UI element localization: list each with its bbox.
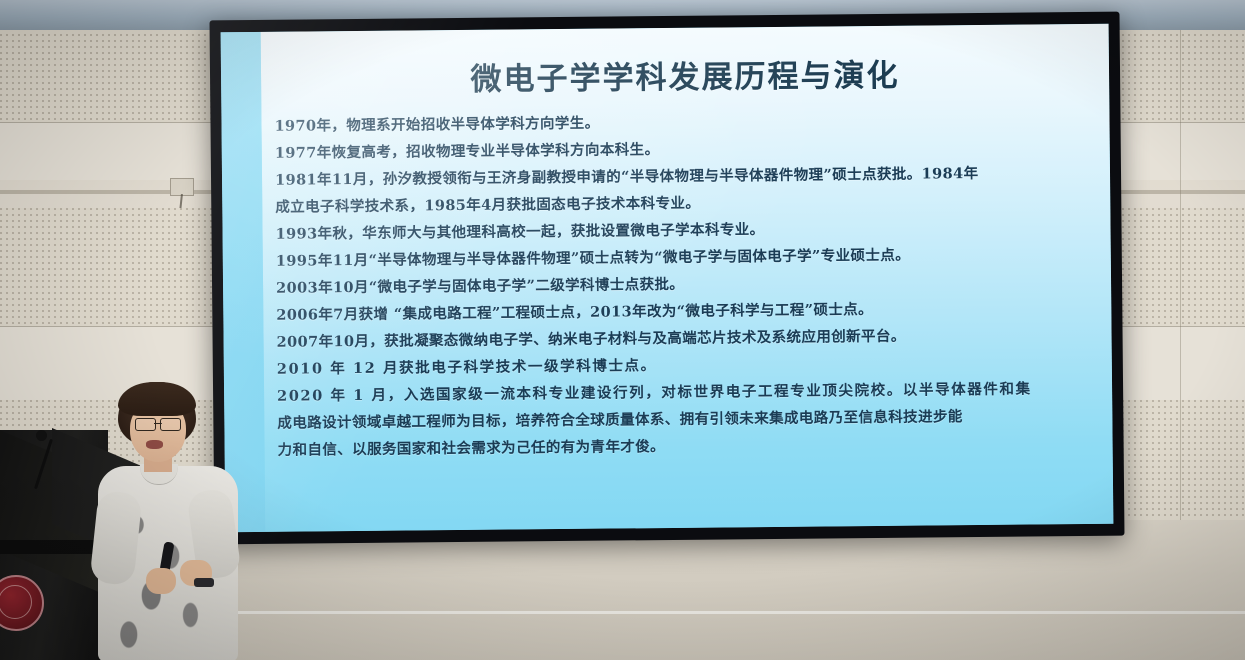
presenter <box>88 382 248 660</box>
microphone-head <box>36 430 47 441</box>
slide-line: 2020 年 1 月，入选国家级一流本科专业建设行列，对标世界电子工程专业顶尖院… <box>277 382 1090 404</box>
lecture-hall-photo: 微电子学学科发展历程与演化 1970年，物理系开始招收半导体学科方向学生。 19… <box>0 0 1245 660</box>
slide-line: 1993年秋，华东师大与其他理科高校一起，获批设置微电子学本科专业。 <box>275 220 1088 242</box>
slide-line: 2003年10月“微电子学与固体电子学”二级学科博士点获批。 <box>276 274 1089 296</box>
slide-line: 2007年10月，获批凝聚态微纳电子学、纳米电子材料与及高端芯片技术及系统应用创… <box>277 328 1090 350</box>
emblem-inner-ring <box>0 585 32 619</box>
presenter-fringe <box>118 382 196 416</box>
slide-line: 1977年恢复高考，招收物理专业半导体学科方向本科生。 <box>275 139 1088 161</box>
slide-line: 成电路设计领域卓越工程师为目标，培养符合全球质量体系、拥有引领未来集成电路乃至信… <box>277 409 1090 431</box>
glasses-right-lens <box>160 418 181 431</box>
slide-line: 2010 年 12 月获批电子科学技术一级学科博士点。 <box>277 355 1090 377</box>
slide-line: 1981年11月，孙汐教授领衔与王济身副教授申请的“半导体物理与半导体器件物理”… <box>275 166 1088 188</box>
glasses-icon <box>135 418 181 429</box>
glasses-left-lens <box>135 418 156 431</box>
wall-display[interactable]: 微电子学学科发展历程与演化 1970年，物理系开始招收半导体学科方向学生。 19… <box>210 12 1125 545</box>
presenter-mouth <box>146 440 163 449</box>
slide-line: 1995年11月“半导体物理与半导体器件物理”硕士点转为“微电子学与固体电子学”… <box>276 247 1089 269</box>
presenter-left-hand <box>146 568 176 594</box>
slide-body-text: 1970年，物理系开始招收半导体学科方向学生。 1977年恢复高考，招收物理专业… <box>274 112 1090 458</box>
slide-line: 2006年7月获增 “集成电路工程”工程硕士点，2013年改为“微电子科学与工程… <box>276 301 1089 323</box>
panel-seam-c <box>1180 22 1181 522</box>
slide-line: 成立电子科学技术系，1985年4月获批固态电子技术本科专业。 <box>275 193 1088 215</box>
wristwatch <box>194 578 214 587</box>
presentation-slide: 微电子学学科发展历程与演化 1970年，物理系开始招收半导体学科方向学生。 19… <box>221 24 1114 533</box>
slide-title: 微电子学学科发展历程与演化 <box>261 48 1109 101</box>
